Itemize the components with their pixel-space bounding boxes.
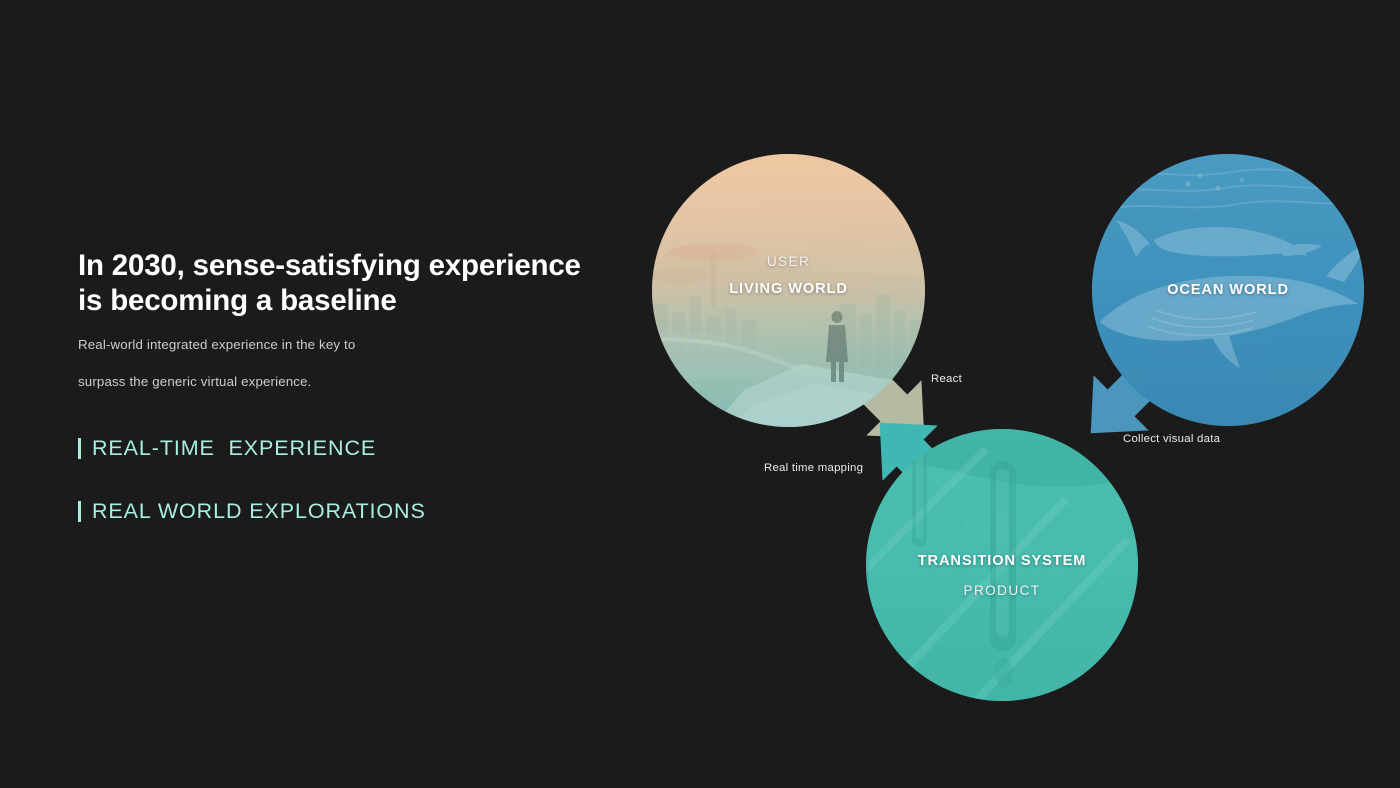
node-main-label: LIVING WORLD: [652, 281, 925, 297]
ocean-world-label-group: OCEAN WORLD: [1092, 282, 1364, 298]
transition-system-label-group: TRANSITION SYSTEM PRODUCT: [866, 553, 1138, 598]
ecosystem-diagram: USER LIVING WORLD: [0, 0, 1400, 788]
slide-canvas: In 2030, sense-satisfying experience is …: [0, 0, 1400, 788]
node-main-label: TRANSITION SYSTEM: [866, 553, 1138, 569]
node-sub-label: PRODUCT: [866, 583, 1138, 598]
node-main-label: OCEAN WORLD: [1092, 282, 1364, 298]
node-living-world[interactable]: USER LIVING WORLD: [652, 154, 925, 427]
node-sub-label: USER: [652, 254, 925, 269]
node-transition-system[interactable]: TRANSITION SYSTEM PRODUCT: [866, 429, 1138, 701]
node-ocean-world[interactable]: OCEAN WORLD: [1092, 154, 1364, 426]
living-world-label-group: USER LIVING WORLD: [652, 254, 925, 297]
arrow-label-collect-visual-data: Collect visual data: [1123, 433, 1220, 445]
arrow-label-react: React: [931, 373, 962, 385]
arrow-label-real-time-mapping: Real time mapping: [764, 462, 863, 474]
